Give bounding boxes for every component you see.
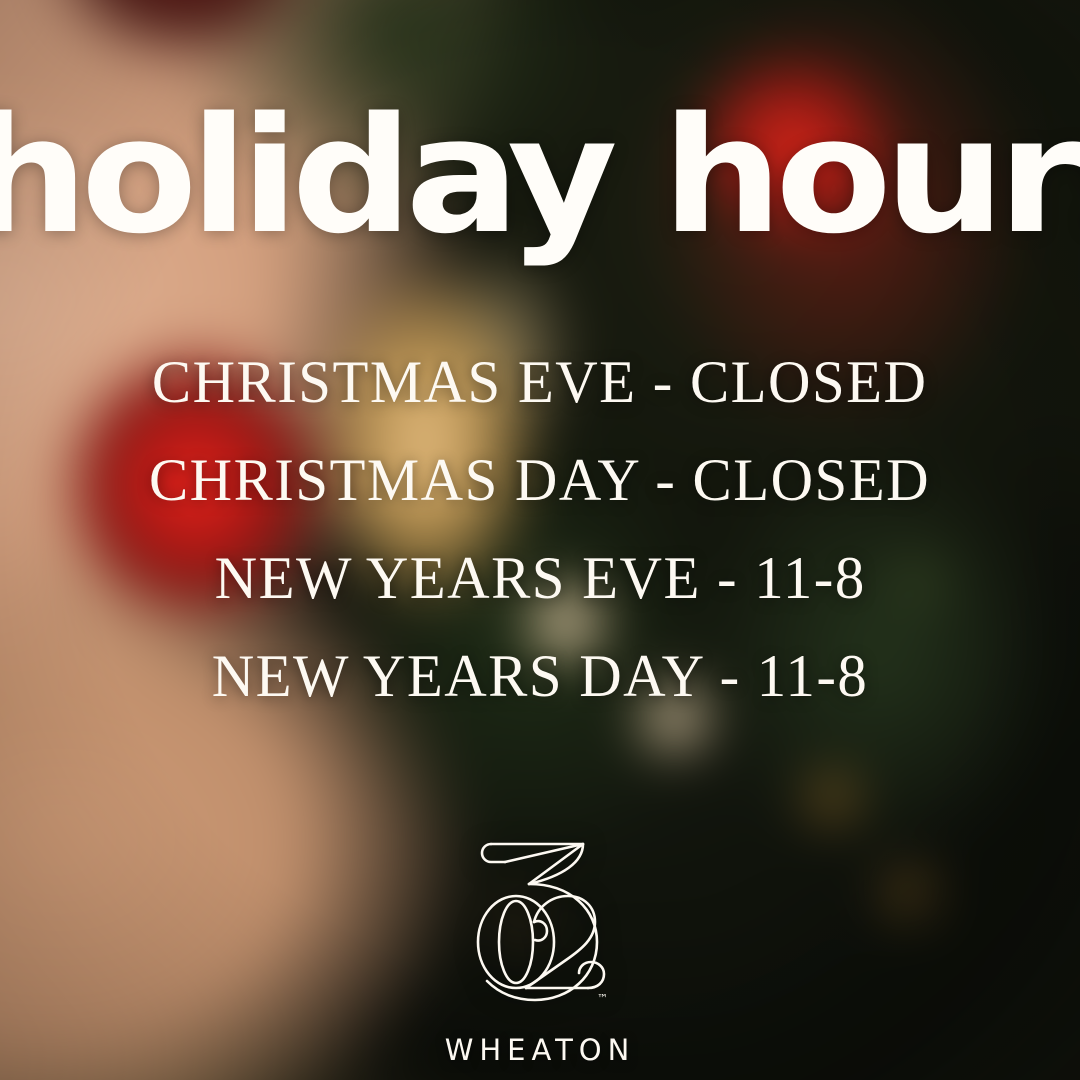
hours-row: CHRISTMAS DAY - CLOSED: [0, 450, 1080, 548]
hours-row: CHRISTMAS EVE - CLOSED: [0, 352, 1080, 450]
brand-lockup: ™ WHEATON: [0, 832, 1080, 1067]
hours-row-text: CHRISTMAS DAY - CLOSED: [149, 450, 930, 510]
302-monogram-logo-icon: ™: [464, 832, 616, 1012]
hours-row-text: NEW YEARS EVE - 11-8: [214, 548, 865, 608]
hours-row-text: CHRISTMAS EVE - CLOSED: [152, 352, 928, 412]
brand-name-label: WHEATON: [0, 1033, 1080, 1067]
hours-row-text: NEW YEARS DAY - 11-8: [212, 646, 869, 706]
holiday-hours-poster: holiday hours CHRISTMAS EVE - CLOSED CHR…: [0, 0, 1080, 1080]
hours-row: NEW YEARS EVE - 11-8: [0, 548, 1080, 646]
hours-row: NEW YEARS DAY - 11-8: [0, 646, 1080, 744]
trademark-symbol: ™: [597, 992, 608, 1005]
page-title: holiday hours: [0, 96, 1080, 256]
holiday-hours-list: CHRISTMAS EVE - CLOSED CHRISTMAS DAY - C…: [0, 352, 1080, 744]
poster-content: holiday hours CHRISTMAS EVE - CLOSED CHR…: [0, 0, 1080, 1080]
